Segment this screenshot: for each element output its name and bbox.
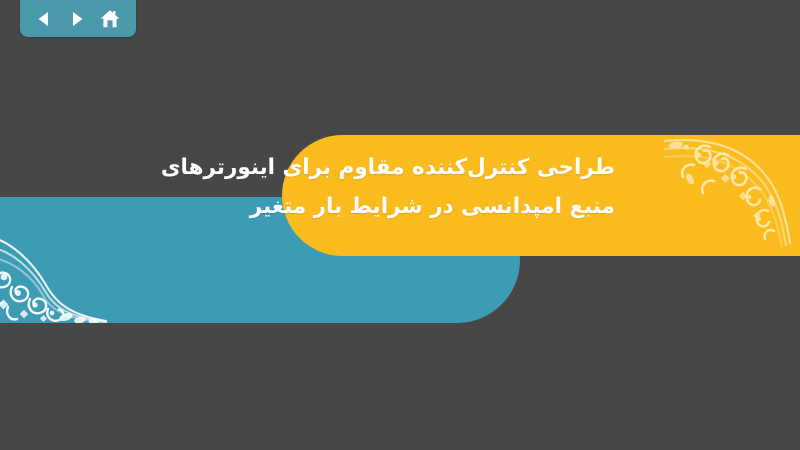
arabesque-corner-ornament [664,135,792,247]
back-triangle-icon[interactable] [31,6,57,32]
slide-title-line-1: طراحی کنترل‌کننده مقاوم برای اینورترهای [275,148,615,187]
home-icon[interactable] [97,6,123,32]
slide-title-line-2: منبع امپدانسی در شرایط بار متغیر [275,187,615,226]
presentation-slide: طراحی کنترل‌کننده مقاوم برای اینورترهای … [0,0,800,450]
slide-title: طراحی کنترل‌کننده مقاوم برای اینورترهای … [275,148,615,226]
arabesque-corner-ornament [0,215,108,323]
forward-triangle-icon[interactable] [64,6,90,32]
slide-navigation-bar [20,0,136,37]
